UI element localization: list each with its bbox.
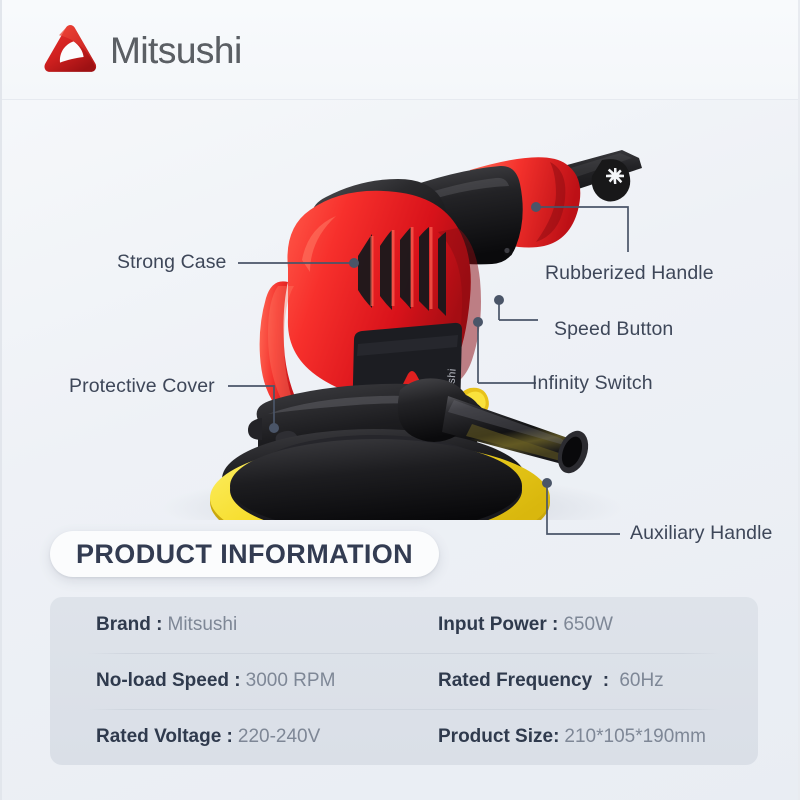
page-header: Mitsushi	[2, 0, 800, 100]
product-information-banner: PRODUCT INFORMATION	[50, 531, 439, 577]
spec-row: Brand : Mitsushi Input Power : 650W	[74, 597, 734, 653]
product-information-title: PRODUCT INFORMATION	[76, 541, 413, 568]
spec-value: 650W	[563, 614, 613, 636]
specification-panel: Brand : Mitsushi Input Power : 650W No-l…	[50, 597, 758, 765]
spec-key: Product Size:	[438, 726, 559, 748]
callout-label-auxiliary-handle: Auxiliary Handle	[630, 524, 773, 544]
spec-cell-rated-voltage: Rated Voltage : 220-240V	[74, 726, 432, 748]
spec-cell-input-power: Input Power : 650W	[432, 614, 734, 636]
spec-value: 220-240V	[238, 726, 320, 748]
spec-cell-brand: Brand : Mitsushi	[74, 614, 432, 636]
callout-label-speed-button: Speed Button	[554, 320, 673, 340]
spec-value: 210*105*190mm	[564, 726, 706, 748]
spec-value: 60Hz	[614, 670, 664, 692]
product-hero-image: Mitsushi	[2, 100, 800, 520]
callout-label-rubberized-handle: Rubberized Handle	[545, 264, 714, 284]
brand-name: Mitsushi	[110, 32, 242, 69]
spec-cell-rated-frequency: Rated Frequency : 60Hz	[432, 670, 734, 692]
brand-lockup: Mitsushi	[42, 24, 242, 76]
spec-row: No-load Speed : 3000 RPM Rated Frequency…	[74, 653, 734, 709]
spec-cell-product-size: Product Size: 210*105*190mm	[432, 726, 734, 748]
angle-polisher-illustration: Mitsushi	[2, 100, 800, 520]
callout-label-protective-cover: Protective Cover	[69, 377, 215, 397]
spec-row: Rated Voltage : 220-240V Product Size: 2…	[74, 709, 734, 765]
callout-label-infinity-switch: Infinity Switch	[532, 374, 653, 394]
spec-value: 3000 RPM	[246, 670, 336, 692]
product-infographic-page: Mitsushi	[0, 0, 800, 800]
callout-label-strong-case: Strong Case	[117, 253, 227, 273]
spec-key: Rated Voltage :	[96, 726, 233, 748]
spec-key: Rated Frequency :	[438, 670, 609, 692]
spec-key: Brand :	[96, 614, 163, 636]
spec-cell-no-load-speed: No-load Speed : 3000 RPM	[74, 670, 432, 692]
spec-value: Mitsushi	[168, 614, 238, 636]
triangle-logo-icon	[42, 24, 98, 76]
spec-key: Input Power :	[438, 614, 558, 636]
spec-key: No-load Speed :	[96, 670, 241, 692]
